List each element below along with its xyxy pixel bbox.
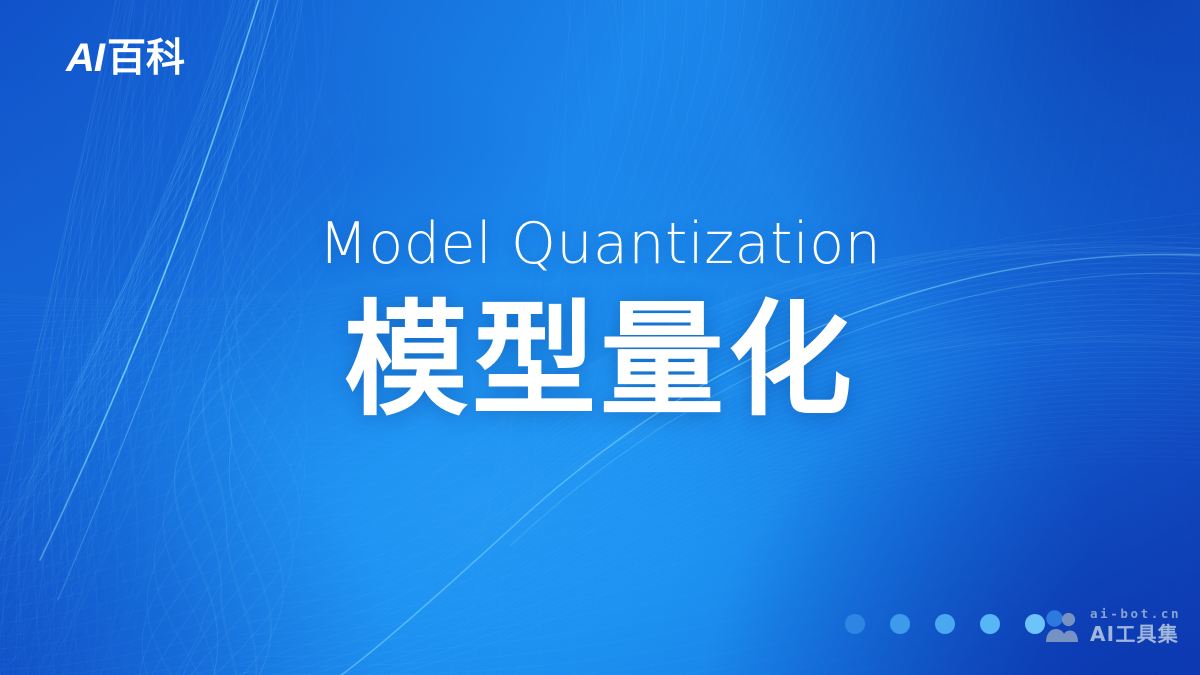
title-english: Model Quantization — [0, 214, 1200, 276]
decorative-dot — [890, 614, 910, 634]
watermark: ai-bot.cn AI工具集 — [1043, 608, 1181, 644]
people-group-icon — [1043, 609, 1081, 643]
watermark-text: ai-bot.cn AI工具集 — [1090, 608, 1181, 644]
decorative-dot — [845, 614, 865, 634]
title-chinese: 模型量化 — [0, 292, 1200, 431]
watermark-name: AI工具集 — [1090, 624, 1181, 644]
decorative-dot-row — [845, 614, 1045, 634]
watermark-url: ai-bot.cn — [1090, 608, 1181, 621]
banner-canvas: AI 百科 Model Quantization 模型量化 ai-bot.cn … — [0, 0, 1200, 675]
title-block: Model Quantization 模型量化 — [0, 214, 1200, 430]
decorative-dot — [935, 614, 955, 634]
brand-logo-ai: AI — [66, 38, 104, 78]
brand-logo-chinese: 百科 — [107, 39, 185, 78]
brand-logo: AI 百科 — [66, 38, 185, 78]
decorative-dot — [980, 614, 1000, 634]
decorative-dot — [1025, 614, 1045, 634]
